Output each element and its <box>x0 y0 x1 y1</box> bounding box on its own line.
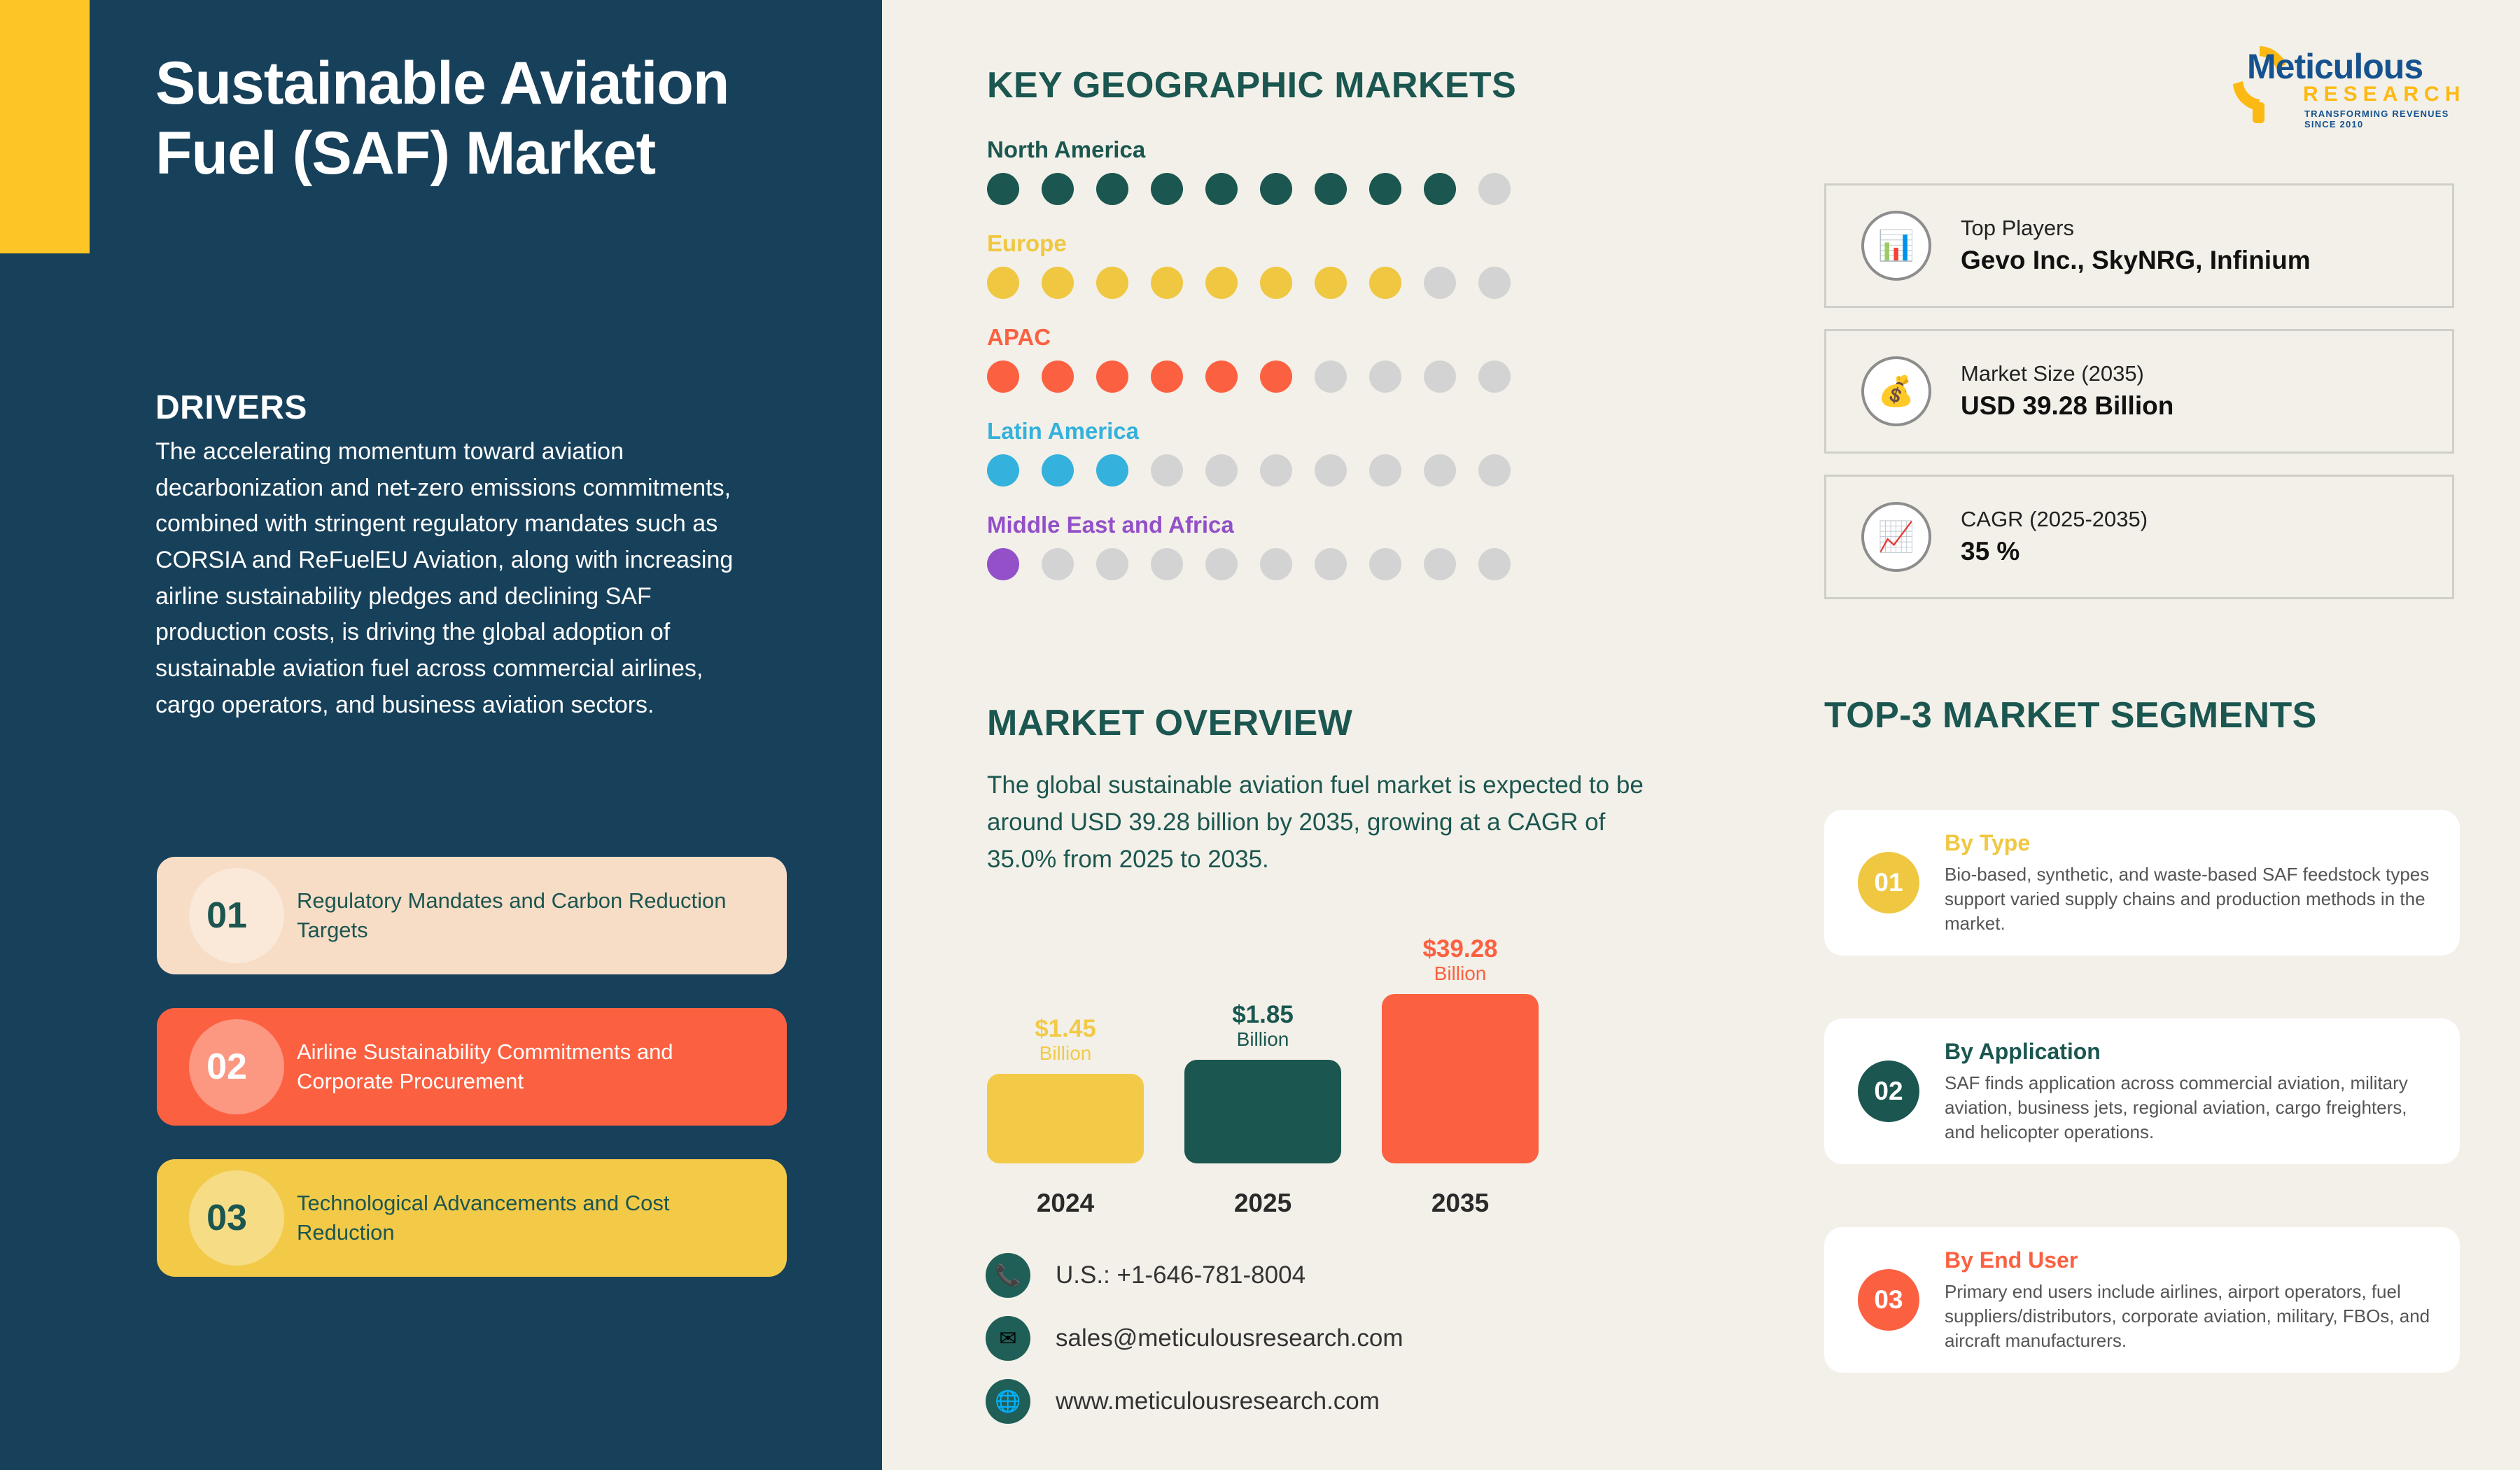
segment-badge-02: 02 <box>1858 1060 1919 1122</box>
geo-dot <box>987 360 1019 393</box>
driver-number-03: 03 <box>206 1197 247 1239</box>
geo-region-label: Europe <box>987 230 1511 257</box>
geo-dot <box>1042 454 1074 486</box>
geo-dot <box>1260 548 1292 580</box>
drivers-heading: DRIVERS <box>155 388 307 427</box>
geo-dot <box>1369 548 1401 580</box>
bar-year-label: 2035 <box>1431 1189 1489 1218</box>
segment-body-02: By Application SAF finds application acr… <box>1945 1037 2460 1145</box>
geo-row-3: Latin America <box>987 418 1511 486</box>
driver-card-01[interactable]: 01 Regulatory Mandates and Carbon Reduct… <box>157 857 787 974</box>
meticulous-research-logo: Meticulous RESEARCH TRANSFORMING REVENUE… <box>2219 43 2478 127</box>
driver-number-02: 02 <box>206 1046 247 1088</box>
stat-body-top-players: Top Players Gevo Inc., SkyNRG, Infinium <box>1961 213 2311 278</box>
segment-body-01: By Type Bio-based, synthetic, and waste-… <box>1945 829 2460 937</box>
geo-dot-row <box>987 548 1511 580</box>
geo-dot <box>1369 454 1401 486</box>
segment-card-02[interactable]: 02 By Application SAF finds application … <box>1824 1018 2460 1164</box>
money-bag-icon: 💰 <box>1861 356 1931 426</box>
market-size-bar-chart: $1.45Billion2024$1.85Billion2025$39.28Bi… <box>987 903 1561 1218</box>
bar-unit-label: Billion <box>1237 1028 1289 1051</box>
driver-number-wrap-02: 02 <box>157 1008 297 1126</box>
geo-row-1: Europe <box>987 230 1511 299</box>
bar-value-label: $1.45 <box>1035 1016 1096 1042</box>
market-overview-paragraph: The global sustainable aviation fuel mar… <box>987 766 1659 878</box>
geographic-markets-list: North AmericaEuropeAPACLatin AmericaMidd… <box>987 136 1511 605</box>
geo-dot <box>1424 454 1456 486</box>
segment-title-03: By End User <box>1945 1246 2436 1275</box>
geo-dot-row <box>987 173 1511 205</box>
stat-card-market-size: 💰 Market Size (2035) USD 39.28 Billion <box>1824 329 2454 454</box>
drivers-paragraph: The accelerating momentum toward aviatio… <box>155 434 743 723</box>
geo-region-label: North America <box>987 136 1511 163</box>
bar-value-label: $1.85 <box>1232 1002 1294 1028</box>
globe-icon: 🌐 <box>986 1379 1030 1424</box>
bar-chart-icon: 📊 <box>1861 211 1931 281</box>
geo-dot <box>987 454 1019 486</box>
left-panel: Sustainable Aviation Fuel (SAF) Market D… <box>0 0 882 1470</box>
stat-card-top-players: 📊 Top Players Gevo Inc., SkyNRG, Infiniu… <box>1824 183 2454 308</box>
segment-title-02: By Application <box>1945 1037 2436 1067</box>
geo-dot <box>1096 360 1128 393</box>
segment-desc-02: SAF finds application across commercial … <box>1945 1071 2436 1145</box>
geo-dot <box>1260 267 1292 299</box>
trending-up-icon: 📈 <box>1861 502 1931 572</box>
accent-bar <box>0 0 90 253</box>
bar-unit-label: Billion <box>1434 962 1487 986</box>
envelope-icon: ✉ <box>986 1316 1030 1361</box>
geo-dot <box>1478 267 1511 299</box>
driver-number-wrap-03: 03 <box>157 1159 297 1277</box>
geo-dot <box>1096 548 1128 580</box>
geo-dot <box>1151 173 1183 205</box>
stat-body-market-size: Market Size (2035) USD 39.28 Billion <box>1961 359 2173 423</box>
geo-dot <box>987 267 1019 299</box>
geo-dot <box>1315 173 1347 205</box>
geo-dot <box>1424 267 1456 299</box>
geo-dot <box>1478 548 1511 580</box>
logo-tagline: TRANSFORMING REVENUES SINCE 2010 <box>2304 108 2478 129</box>
stat-label-top-players: Top Players <box>1961 213 2311 243</box>
geo-dot <box>987 173 1019 205</box>
stat-body-cagr: CAGR (2025-2035) 35 % <box>1961 505 2148 569</box>
segment-badge-03: 03 <box>1858 1269 1919 1331</box>
geo-dot <box>1315 360 1347 393</box>
contact-row-website[interactable]: 🌐 www.meticulousresearch.com <box>986 1379 1403 1424</box>
bar-year-label: 2025 <box>1234 1189 1291 1218</box>
phone-icon: 📞 <box>986 1253 1030 1298</box>
geo-dot-row <box>987 360 1511 393</box>
geo-dot-row <box>987 267 1511 299</box>
geo-dot <box>1478 454 1511 486</box>
geo-dot <box>1096 267 1128 299</box>
geo-dot <box>1478 173 1511 205</box>
driver-number-01: 01 <box>206 895 247 937</box>
geographic-markets-title: KEY GEOGRAPHIC MARKETS <box>987 64 1516 106</box>
segment-title-01: By Type <box>1945 829 2436 858</box>
bar-value-label: $39.28 <box>1422 937 1497 962</box>
geo-dot <box>1260 360 1292 393</box>
geo-dot <box>1478 360 1511 393</box>
geo-dot <box>1151 360 1183 393</box>
geo-row-2: APAC <box>987 324 1511 393</box>
geo-dot <box>1315 548 1347 580</box>
contact-website: www.meticulousresearch.com <box>1056 1387 1380 1415</box>
segment-badge-01: 01 <box>1858 852 1919 913</box>
driver-number-wrap-01: 01 <box>157 857 297 974</box>
geo-dot <box>1151 454 1183 486</box>
geo-region-label: APAC <box>987 324 1511 351</box>
geo-dot <box>1260 173 1292 205</box>
bar-year-label: 2024 <box>1037 1189 1094 1218</box>
logo-sub-text: RESEARCH <box>2303 83 2465 106</box>
geo-dot <box>1205 454 1238 486</box>
geo-dot-row <box>987 454 1511 486</box>
stat-label-cagr: CAGR (2025-2035) <box>1961 505 2148 534</box>
geo-dot <box>1315 454 1347 486</box>
bar-rect <box>987 1074 1144 1163</box>
geo-dot <box>1042 173 1074 205</box>
contact-email: sales@meticulousresearch.com <box>1056 1324 1403 1352</box>
segment-card-03[interactable]: 03 By End User Primary end users include… <box>1824 1227 2460 1373</box>
bar-column-2025: $1.85Billion2025 <box>1184 903 1341 1218</box>
page-title: Sustainable Aviation Fuel (SAF) Market <box>155 49 785 189</box>
logo-brand-text: Meticulous <box>2247 46 2423 87</box>
geo-dot <box>1369 267 1401 299</box>
geo-dot <box>1096 454 1128 486</box>
bar-rect <box>1184 1060 1341 1163</box>
segment-card-01[interactable]: 01 By Type Bio-based, synthetic, and was… <box>1824 810 2460 955</box>
bar-column-2035: $39.28Billion2035 <box>1382 903 1539 1218</box>
market-overview-title: MARKET OVERVIEW <box>987 702 1352 744</box>
driver-card-02[interactable]: 02 Airline Sustainability Commitments an… <box>157 1008 787 1126</box>
segment-desc-01: Bio-based, synthetic, and waste-based SA… <box>1945 862 2436 937</box>
stat-label-market-size: Market Size (2035) <box>1961 359 2173 388</box>
driver-label-03: Technological Advancements and Cost Redu… <box>297 1189 787 1247</box>
contact-row-phone[interactable]: 📞 U.S.: +1-646-781-8004 <box>986 1253 1403 1298</box>
stat-value-cagr: 35 % <box>1961 534 2148 569</box>
geo-region-label: Middle East and Africa <box>987 512 1511 538</box>
geo-row-4: Middle East and Africa <box>987 512 1511 580</box>
geo-dot <box>1205 548 1238 580</box>
segment-desc-03: Primary end users include airlines, airp… <box>1945 1280 2436 1354</box>
geo-dot <box>1369 360 1401 393</box>
driver-label-02: Airline Sustainability Commitments and C… <box>297 1037 787 1095</box>
geo-dot <box>1260 454 1292 486</box>
geo-dot <box>1151 548 1183 580</box>
geo-dot <box>1424 548 1456 580</box>
geo-dot <box>1424 360 1456 393</box>
geo-dot <box>987 548 1019 580</box>
market-segments-title: TOP-3 MARKET SEGMENTS <box>1824 694 2317 736</box>
geo-row-0: North America <box>987 136 1511 205</box>
bar-unit-label: Billion <box>1039 1042 1092 1065</box>
geo-dot <box>1424 173 1456 205</box>
geo-dot <box>1205 267 1238 299</box>
contact-row-email[interactable]: ✉ sales@meticulousresearch.com <box>986 1316 1403 1361</box>
stat-card-cagr: 📈 CAGR (2025-2035) 35 % <box>1824 475 2454 599</box>
geo-dot <box>1042 267 1074 299</box>
geo-dot <box>1205 360 1238 393</box>
bar-rect <box>1382 994 1539 1163</box>
geo-dot <box>1205 173 1238 205</box>
geo-dot <box>1151 267 1183 299</box>
geo-dot <box>1042 548 1074 580</box>
geo-dot <box>1096 173 1128 205</box>
driver-card-03[interactable]: 03 Technological Advancements and Cost R… <box>157 1159 787 1277</box>
contact-list: 📞 U.S.: +1-646-781-8004 ✉ sales@meticulo… <box>986 1253 1403 1442</box>
geo-dot <box>1315 267 1347 299</box>
bar-column-2024: $1.45Billion2024 <box>987 903 1144 1218</box>
stat-value-top-players: Gevo Inc., SkyNRG, Infinium <box>1961 243 2311 278</box>
geo-dot <box>1369 173 1401 205</box>
geo-dot <box>1042 360 1074 393</box>
geo-region-label: Latin America <box>987 418 1511 444</box>
contact-phone: U.S.: +1-646-781-8004 <box>1056 1261 1305 1289</box>
stat-value-market-size: USD 39.28 Billion <box>1961 388 2173 423</box>
driver-label-01: Regulatory Mandates and Carbon Reduction… <box>297 886 787 944</box>
segment-body-03: By End User Primary end users include ai… <box>1945 1246 2460 1354</box>
